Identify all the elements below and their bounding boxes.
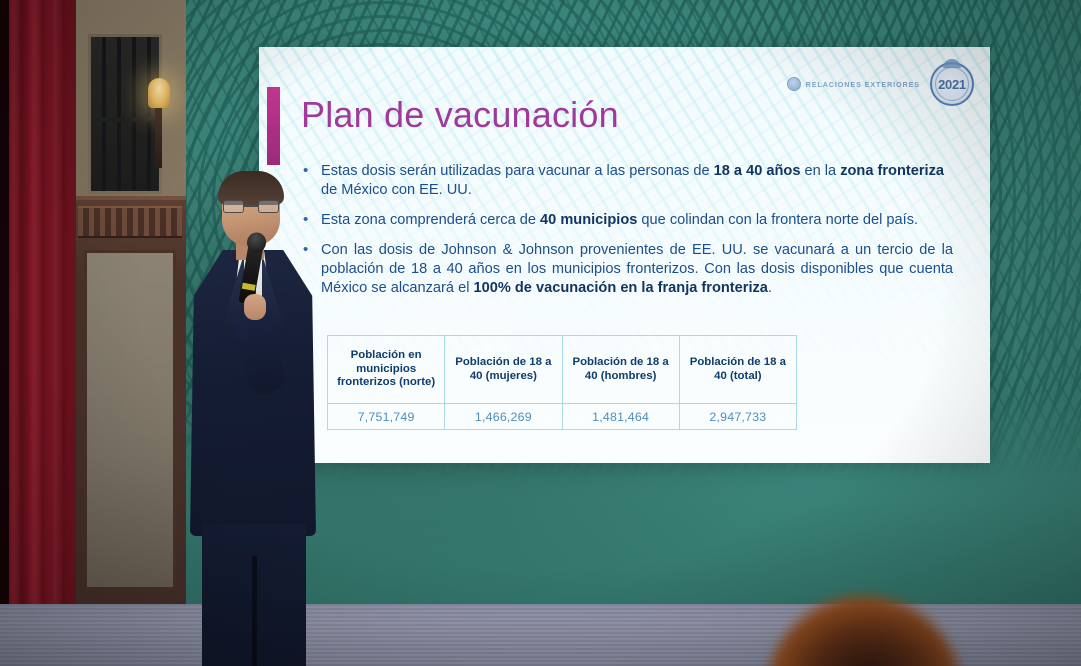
- seal-year-label: 2021: [938, 77, 966, 92]
- microphone-band: [242, 283, 256, 291]
- table-cell-0-1: 1,466,269: [445, 404, 562, 430]
- room-background: [0, 0, 186, 666]
- table-header-cell-0: Población en municipios fronterizos (nor…: [328, 336, 445, 404]
- table-body: 7,751,7491,466,2691,481,4642,947,733: [328, 404, 797, 430]
- bullet-municipios: Esta zona comprenderá cerca de 40 munici…: [301, 211, 953, 230]
- anniversary-seal-icon: 2021: [930, 62, 974, 106]
- bullet-dosis-frontera: Estas dosis serán utilizadas para vacuna…: [301, 162, 953, 200]
- table-header-cell-2: Población de 18 a 40 (hombres): [562, 336, 679, 404]
- wood-panel-carving: [78, 206, 182, 238]
- sre-logo: RELACIONES EXTERIORES: [787, 77, 920, 91]
- red-curtain: [0, 0, 76, 666]
- doorway: [84, 250, 176, 590]
- speaker-leg-split: [252, 556, 257, 666]
- slide-title: Plan de vacunación: [301, 94, 619, 136]
- speaker-glasses-icon: [223, 200, 279, 213]
- wall-lamp-icon: [148, 78, 170, 108]
- lamp-stand: [155, 108, 162, 168]
- title-accent-bar: [267, 87, 280, 165]
- bullet-johnson: Con las dosis de Johnson & Johnson prove…: [301, 241, 953, 298]
- floor-left: [0, 604, 186, 666]
- slide-logos: RELACIONES EXTERIORES 2021: [787, 62, 974, 106]
- bullet-list: Estas dosis serán utilizadas para vacuna…: [301, 162, 953, 309]
- table-header-cell-3: Población de 18 a 40 (total): [679, 336, 796, 404]
- table-row: 7,751,7491,466,2691,481,4642,947,733: [328, 404, 797, 430]
- table-cell-0-3: 2,947,733: [679, 404, 796, 430]
- seal-crest: [943, 59, 961, 68]
- speaker-hand: [244, 294, 266, 320]
- room-window: [88, 34, 162, 194]
- table-header-cell-1: Población de 18 a 40 (mujeres): [445, 336, 562, 404]
- curtain-dark-edge: [0, 0, 9, 666]
- ministry-label: RELACIONES EXTERIORES: [806, 80, 920, 89]
- eagle-seal-icon: [787, 77, 801, 91]
- projected-slide: RELACIONES EXTERIORES 2021 Plan de vacun…: [259, 47, 990, 463]
- table-cell-0-0: 7,751,749: [328, 404, 445, 430]
- screenshot-stage: RELACIONES EXTERIORES 2021 Plan de vacun…: [0, 0, 1081, 666]
- population-table-wrapper: Población en municipios fronterizos (nor…: [327, 335, 797, 430]
- table-cell-0-2: 1,481,464: [562, 404, 679, 430]
- population-table: Población en municipios fronterizos (nor…: [327, 335, 797, 430]
- table-header-row: Población en municipios fronterizos (nor…: [328, 336, 797, 404]
- speaker-figure: [178, 176, 338, 616]
